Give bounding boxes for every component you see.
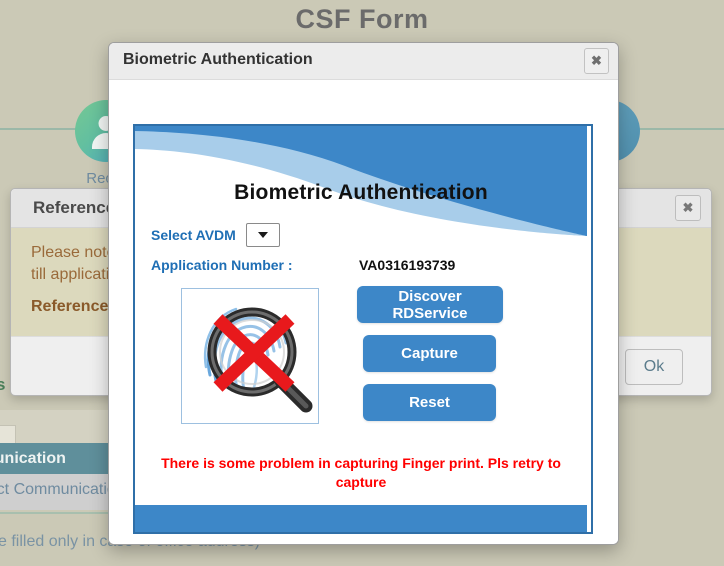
capture-button[interactable]: Capture [363, 335, 496, 372]
reference-message-bold: Reference [31, 298, 108, 315]
section-header-label: Communication [0, 443, 66, 474]
action-buttons: Discover RDService Capture Reset [357, 286, 503, 433]
error-message: There is some problem in capturing Finge… [155, 454, 567, 492]
close-icon[interactable]: ✖ [584, 48, 609, 74]
page-title: CSF Form [0, 4, 724, 35]
discover-rdservice-button[interactable]: Discover RDService [357, 286, 503, 323]
ok-button[interactable]: Ok [625, 349, 683, 385]
close-icon[interactable]: ✖ [675, 195, 701, 221]
biometric-authentication-modal: Biometric Authentication ✖ Biometric Aut… [108, 42, 619, 545]
panel-footer-bar [135, 505, 587, 532]
background-left-text: s [0, 375, 5, 395]
avdm-row: Select AVDM [151, 223, 280, 247]
modal-title: Biometric Authentication [123, 51, 313, 69]
modal-body: Biometric Authentication Select AVDM App… [109, 80, 618, 544]
reset-button[interactable]: Reset [363, 384, 496, 421]
fingerprint-error-icon [181, 288, 319, 424]
reference-dialog-title: Reference [33, 198, 115, 218]
modal-header: Biometric Authentication ✖ [109, 43, 618, 80]
biometric-panel: Biometric Authentication Select AVDM App… [133, 124, 593, 534]
application-number-label: Application Number : [151, 257, 293, 273]
avdm-label: Select AVDM [151, 227, 236, 243]
panel-heading: Biometric Authentication [135, 181, 587, 205]
avdm-select[interactable] [246, 223, 280, 247]
application-number-value: VA0316193739 [359, 257, 455, 273]
